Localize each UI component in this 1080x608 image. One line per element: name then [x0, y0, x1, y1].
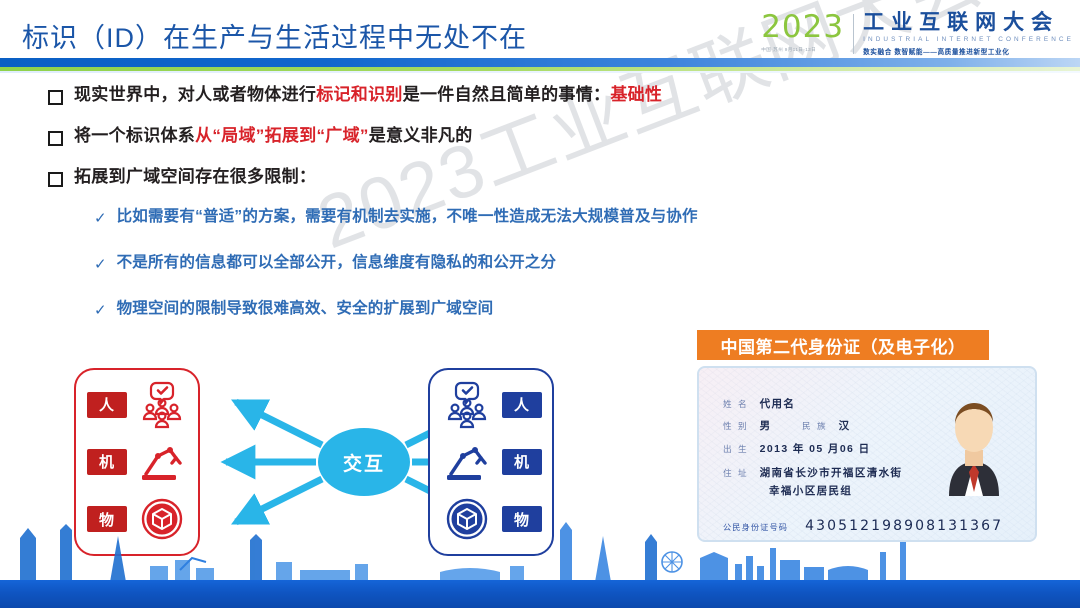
- people-group-icon: [136, 381, 188, 429]
- header-divider-light: [0, 71, 1080, 73]
- id-field-gender: 性 别 男: [723, 418, 772, 433]
- id-value-gender: 男: [760, 420, 772, 432]
- id-field-address: 住 址 湖南省长沙市开福区清水街: [723, 465, 902, 480]
- sub-bullet-item: ✓ 不是所有的信息都可以全部公开，信息维度有隐私的和公开之分: [94, 253, 994, 273]
- entity-row-machine: 机: [76, 434, 198, 490]
- bullet-text: 现实世界中，对人或者物体进行标记和识别是一件自然且简单的事情：基础性: [74, 84, 662, 107]
- robot-arm-icon: [136, 438, 188, 486]
- id-card-body: 姓 名 代用名 性 别 男 民 族 汉 出 生 2013 年 05 月06 日 …: [697, 366, 1037, 542]
- bullet-segment: 将一个标识体系: [74, 126, 195, 145]
- sub-bullet-text: 物理空间的限制导致很难高效、安全的扩展到广域空间: [117, 299, 494, 319]
- entity-row-machine: 机: [430, 434, 552, 490]
- square-bullet-icon: [48, 131, 63, 146]
- entity-tag-person: 人: [502, 392, 542, 418]
- check-icon: ✓: [94, 209, 107, 227]
- city-skyline-icon: [0, 522, 1080, 582]
- id-label-birth: 出 生: [723, 444, 749, 454]
- footer-band: [0, 560, 1080, 608]
- entity-tag-person: 人: [87, 392, 127, 418]
- bullet-item: 现实世界中，对人或者物体进行标记和识别是一件自然且简单的事情：基础性: [48, 84, 988, 107]
- avatar: [935, 388, 1013, 496]
- entity-row-person: 人: [430, 377, 552, 433]
- id-field-address-line2: 幸福小区居民组: [769, 483, 852, 498]
- bullet-text: 拓展到广域空间存在很多限制：: [74, 166, 316, 189]
- page-title: 标识（ID）在生产与生活过程中无处不在: [22, 16, 527, 55]
- hub-interaction-node: 交互: [318, 428, 410, 496]
- bullet-segment-highlight: 从“局域”拓展到“广域”: [195, 126, 369, 145]
- logo-year-subtitle: 中国·苏州 9月11日-13日: [761, 47, 844, 53]
- sub-bullet-text: 比如需要有“普适”的方案，需要有机制去实施，不唯一性造成无法大规模普及与协作: [117, 207, 698, 227]
- logo-divider: [853, 14, 854, 54]
- footer-band-sea: [0, 580, 1080, 608]
- logo-english-name: INDUSTRIAL INTERNET CONFERENCE: [863, 36, 1074, 43]
- entity-tag-machine: 机: [502, 449, 542, 475]
- bullet-list: 现实世界中，对人或者物体进行标记和识别是一件自然且简单的事情：基础性 将一个标识…: [48, 84, 988, 207]
- robot-arm-icon: [441, 438, 493, 486]
- id-value-address-line2: 幸福小区居民组: [769, 485, 852, 497]
- entity-row-person: 人: [76, 377, 198, 433]
- bullet-segment-highlight: 基础性: [610, 85, 662, 104]
- bullet-item: 拓展到广域空间存在很多限制：: [48, 166, 988, 189]
- id-field-ethnicity: 民 族 汉: [802, 418, 851, 433]
- id-card: 中国第二代身份证（及电子化） 姓 名 代用名 性 别 男 民 族 汉 出 生 2…: [697, 330, 1037, 545]
- id-label-ethnicity: 民 族: [802, 421, 828, 431]
- logo-year: 2023: [761, 12, 844, 43]
- id-label-gender: 性 别: [723, 421, 749, 431]
- conference-logo: 2023 中国·苏州 9月11日-13日 工业互联网大会 INDUSTRIAL …: [761, 12, 1074, 56]
- bullet-segment-highlight: 标记和识别: [316, 85, 403, 104]
- check-icon: ✓: [94, 255, 107, 273]
- id-card-header: 中国第二代身份证（及电子化）: [697, 330, 989, 360]
- logo-slogan: 数实融合 数智赋能——高质量推进新型工业化: [863, 46, 1074, 56]
- bullet-segment: 现实世界中，对人或者物体进行: [74, 85, 316, 104]
- id-value-address: 湖南省长沙市开福区清水街: [760, 467, 903, 479]
- id-field-name: 姓 名 代用名: [723, 396, 795, 411]
- entity-tag-machine: 机: [87, 449, 127, 475]
- id-field-birth: 出 生 2013 年 05 月06 日: [723, 441, 871, 456]
- id-value-birth: 2013 年 05 月06 日: [760, 443, 871, 455]
- logo-chinese-name: 工业互联网大会: [863, 12, 1074, 34]
- sub-bullet-list: ✓ 比如需要有“普适”的方案，需要有机制去实施，不唯一性造成无法大规模普及与协作…: [94, 207, 994, 345]
- square-bullet-icon: [48, 90, 63, 105]
- id-label-name: 姓 名: [723, 399, 749, 409]
- people-group-icon: [441, 381, 493, 429]
- square-bullet-icon: [48, 172, 63, 187]
- bullet-text: 将一个标识体系从“局域”拓展到“广域”是意义非凡的: [74, 125, 473, 148]
- bullet-item: 将一个标识体系从“局域”拓展到“广域”是意义非凡的: [48, 125, 988, 148]
- bullet-segment: 是意义非凡的: [369, 126, 473, 145]
- bullet-segment: 是一件自然且简单的事情：: [403, 85, 611, 104]
- sub-bullet-item: ✓ 物理空间的限制导致很难高效、安全的扩展到广域空间: [94, 299, 994, 319]
- id-label-address: 住 址: [723, 468, 749, 478]
- slide-root: 2023工业互联网大会 标识（ID）在生产与生活过程中无处不在 2023 中国·…: [0, 0, 1080, 608]
- header-divider-blue: [0, 58, 1080, 67]
- check-icon: ✓: [94, 301, 107, 319]
- sub-bullet-text: 不是所有的信息都可以全部公开，信息维度有隐私的和公开之分: [117, 253, 557, 273]
- id-value-ethnicity: 汉: [839, 420, 851, 432]
- sub-bullet-item: ✓ 比如需要有“普适”的方案，需要有机制去实施，不唯一性造成无法大规模普及与协作: [94, 207, 994, 227]
- id-value-name: 代用名: [760, 398, 796, 410]
